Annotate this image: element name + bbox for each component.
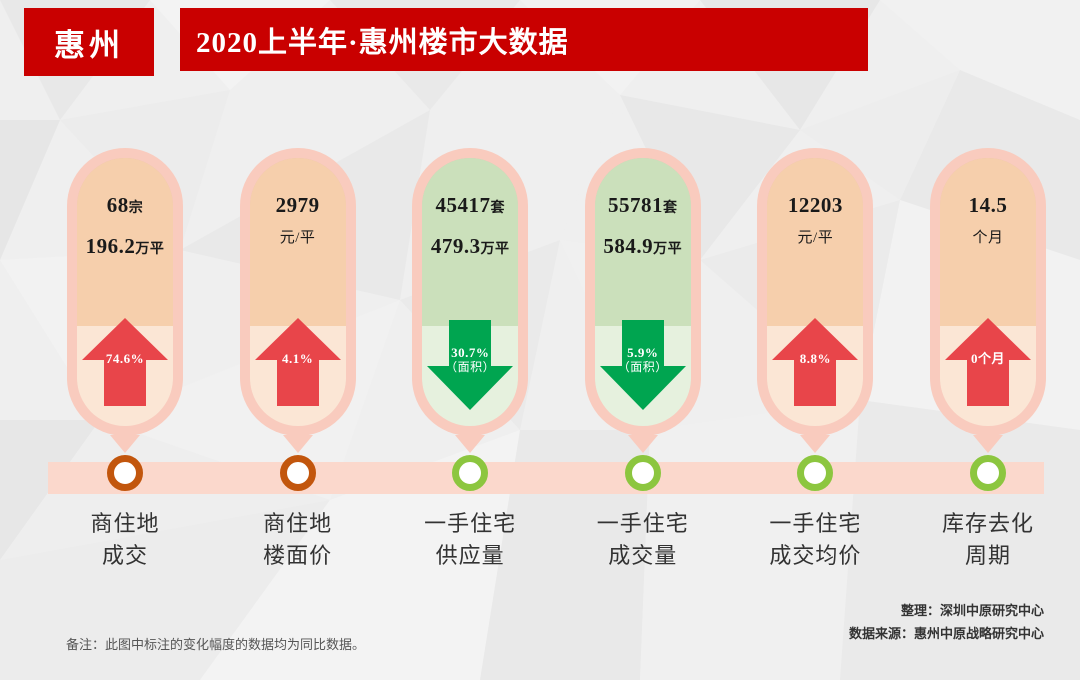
infographic-canvas: 惠州 2020上半年·惠州楼市大数据 68宗196.2万平74.6%2979元/… xyxy=(0,0,1080,680)
metric-card[interactable]: 55781套584.9万平5.9%（面积） xyxy=(585,148,701,436)
category-label-line1: 库存去化 xyxy=(942,511,1034,536)
category-label[interactable]: 一手住宅供应量 xyxy=(385,508,555,572)
metric-secondary-unit: 万平 xyxy=(135,242,164,257)
metric-values: 2979元/平 xyxy=(240,192,356,247)
change-label: 0个月 xyxy=(945,352,1031,367)
data-source: 数据来源：惠州中原战略研究中心 xyxy=(849,623,1044,646)
page-title: 2020上半年·惠州楼市大数据 xyxy=(180,8,868,71)
change-value: 8.8% xyxy=(800,351,831,366)
category-label-line1: 商住地 xyxy=(263,511,332,536)
capsule-pointer xyxy=(800,435,830,453)
metric-secondary-value: 个月 xyxy=(930,226,1046,247)
arrow-down-icon: 5.9%（面积） xyxy=(600,318,686,410)
category-labels: 商住地成交商住地楼面价一手住宅供应量一手住宅成交量一手住宅成交均价库存去化周期 xyxy=(0,508,1080,588)
metric-cards: 68宗196.2万平74.6%2979元/平4.1%45417套479.3万平3… xyxy=(0,148,1080,448)
arrow-up-icon: 4.1% xyxy=(255,314,341,406)
metric-card[interactable]: 68宗196.2万平74.6% xyxy=(67,148,183,436)
arrow-up-icon: 0个月 xyxy=(945,314,1031,406)
capsule-pointer xyxy=(973,435,1003,453)
metric-secondary-unit: 万平 xyxy=(653,242,682,257)
metric-secondary-value: 元/平 xyxy=(757,226,873,247)
timeline-bar xyxy=(48,462,1044,494)
arrow-up-icon: 74.6% xyxy=(82,314,168,406)
category-label-line2: 成交 xyxy=(40,540,210,572)
metric-secondary-value: 元/平 xyxy=(240,226,356,247)
category-label-line2: 供应量 xyxy=(385,540,555,572)
arrow-up-icon: 8.8% xyxy=(772,314,858,406)
metric-card[interactable]: 12203元/平8.8% xyxy=(757,148,873,436)
category-label-line1: 一手住宅 xyxy=(424,511,516,536)
change-label: 74.6% xyxy=(82,352,168,367)
category-label[interactable]: 一手住宅成交量 xyxy=(558,508,728,572)
metric-secondary-value: 196.2万平 xyxy=(67,234,183,259)
metric-primary-value: 55781套 xyxy=(585,192,701,218)
metric-values: 14.5个月 xyxy=(930,192,1046,247)
capsule-pointer xyxy=(110,435,140,453)
metric-values: 55781套584.9万平 xyxy=(585,192,701,259)
capsule-pointer xyxy=(283,435,313,453)
change-value: 74.6% xyxy=(106,351,144,366)
metric-primary-value: 14.5 xyxy=(930,192,1046,218)
change-value: 0个月 xyxy=(971,351,1005,366)
change-label: 5.9%（面积） xyxy=(600,346,686,375)
timeline-dot[interactable] xyxy=(280,455,316,491)
compiled-by: 整理：深圳中原研究中心 xyxy=(849,600,1044,623)
change-value: 30.7% xyxy=(451,345,489,360)
category-label-line2: 周期 xyxy=(903,540,1073,572)
change-label: 8.8% xyxy=(772,352,858,367)
change-label: 4.1% xyxy=(255,352,341,367)
timeline-dot[interactable] xyxy=(970,455,1006,491)
metric-secondary-value: 479.3万平 xyxy=(412,234,528,259)
metric-card[interactable]: 2979元/平4.1% xyxy=(240,148,356,436)
category-label[interactable]: 商住地楼面价 xyxy=(213,508,383,572)
category-label-line1: 一手住宅 xyxy=(597,511,689,536)
city-badge: 惠州 xyxy=(24,8,154,76)
arrow-down-icon: 30.7%（面积） xyxy=(427,318,513,410)
change-note: （面积） xyxy=(600,361,686,375)
metric-values: 68宗196.2万平 xyxy=(67,192,183,259)
metric-secondary-unit: 万平 xyxy=(481,242,510,257)
footer-note: 备注：此图中标注的变化幅度的数据均为同比数据。 xyxy=(66,634,365,653)
timeline-dot[interactable] xyxy=(625,455,661,491)
change-label: 30.7%（面积） xyxy=(427,346,513,375)
timeline-dot[interactable] xyxy=(107,455,143,491)
metric-values: 45417套479.3万平 xyxy=(412,192,528,259)
category-label-line1: 商住地 xyxy=(90,511,159,536)
metric-card[interactable]: 45417套479.3万平30.7%（面积） xyxy=(412,148,528,436)
change-note: （面积） xyxy=(427,361,513,375)
timeline-dot[interactable] xyxy=(452,455,488,491)
change-value: 4.1% xyxy=(282,351,313,366)
category-label-line2: 成交均价 xyxy=(730,540,900,572)
metric-primary-unit: 宗 xyxy=(129,201,144,216)
metric-primary-value: 12203 xyxy=(757,192,873,218)
category-label-line1: 一手住宅 xyxy=(769,511,861,536)
capsule-pointer xyxy=(455,435,485,453)
category-label[interactable]: 商住地成交 xyxy=(40,508,210,572)
header: 惠州 2020上半年·惠州楼市大数据 xyxy=(24,8,868,76)
metric-primary-value: 68宗 xyxy=(67,192,183,218)
metric-primary-unit: 套 xyxy=(490,201,505,216)
category-label-line2: 楼面价 xyxy=(213,540,383,572)
timeline-dot[interactable] xyxy=(797,455,833,491)
category-label[interactable]: 库存去化周期 xyxy=(903,508,1073,572)
metric-secondary-value: 584.9万平 xyxy=(585,234,701,259)
change-value: 5.9% xyxy=(627,345,658,360)
metric-card[interactable]: 14.5个月0个月 xyxy=(930,148,1046,436)
metric-primary-value: 45417套 xyxy=(412,192,528,218)
capsule-pointer xyxy=(628,435,658,453)
footer-source: 整理：深圳中原研究中心 数据来源：惠州中原战略研究中心 xyxy=(849,600,1044,646)
metric-primary-value: 2979 xyxy=(240,192,356,218)
metric-values: 12203元/平 xyxy=(757,192,873,247)
category-label-line2: 成交量 xyxy=(558,540,728,572)
category-label[interactable]: 一手住宅成交均价 xyxy=(730,508,900,572)
metric-primary-unit: 套 xyxy=(663,201,678,216)
